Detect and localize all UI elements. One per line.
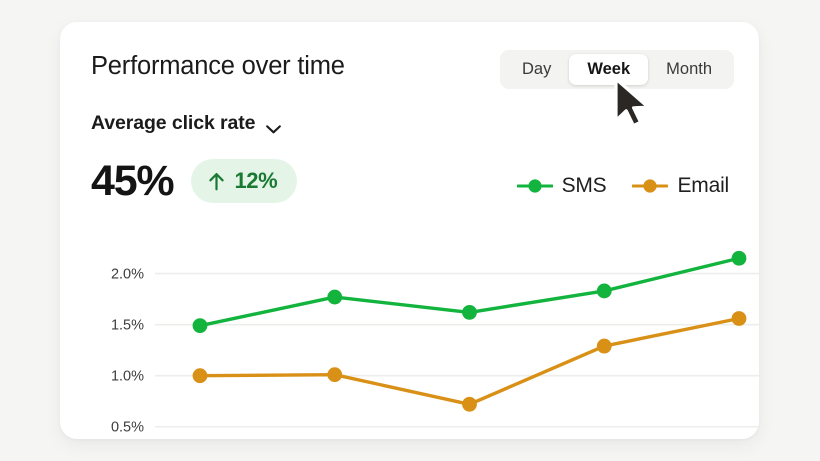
y-axis-tick-label: 2.0% — [111, 267, 144, 283]
y-axis-tick-label: 1.5% — [111, 318, 144, 334]
page-title: Performance over time — [91, 52, 345, 81]
legend-item-sms[interactable]: SMS — [517, 174, 607, 198]
metric-selector-label: Average click rate — [91, 112, 255, 135]
line-chart: 0.5%1.0%1.5%2.0% — [60, 227, 759, 439]
data-point-sms-5[interactable] — [732, 251, 747, 266]
data-point-sms-4[interactable] — [597, 284, 612, 299]
chart-series-layer — [193, 251, 747, 412]
data-point-email-4[interactable] — [597, 339, 612, 354]
screenshot-root: Performance over time Day Week Month Ave… — [0, 0, 820, 461]
stat-delta: 12% — [234, 170, 277, 192]
data-point-email-1[interactable] — [193, 368, 208, 383]
legend-marker-email — [632, 178, 668, 194]
chevron-down-icon — [266, 121, 281, 130]
performance-card: Performance over time Day Week Month Ave… — [60, 22, 759, 439]
time-range-segmented-control[interactable]: Day Week Month — [500, 50, 734, 89]
data-point-email-2[interactable] — [327, 367, 342, 382]
data-point-sms-1[interactable] — [193, 318, 208, 333]
chart-gridlines — [155, 274, 759, 427]
range-option-week[interactable]: Week — [569, 54, 648, 85]
legend-marker-sms — [517, 178, 553, 194]
primary-stat: 45% 12% — [91, 159, 297, 203]
legend-item-email[interactable]: Email — [632, 174, 729, 198]
range-option-month[interactable]: Month — [648, 54, 730, 85]
data-point-sms-3[interactable] — [462, 305, 477, 320]
status-badge: 12% — [191, 159, 297, 203]
data-point-email-5[interactable] — [732, 311, 747, 326]
stat-value: 45% — [91, 160, 173, 203]
legend-label-email: Email — [677, 174, 729, 198]
y-axis-tick-label: 0.5% — [111, 420, 144, 436]
range-option-day[interactable]: Day — [504, 54, 569, 85]
legend-label-sms: SMS — [562, 174, 607, 198]
y-axis-tick-label: 1.0% — [111, 369, 144, 385]
data-point-email-3[interactable] — [462, 397, 477, 412]
data-point-sms-2[interactable] — [327, 290, 342, 305]
series-line-email — [200, 319, 739, 405]
chart-svg: 0.5%1.0%1.5%2.0% — [60, 227, 759, 439]
metric-selector[interactable]: Average click rate — [91, 112, 281, 135]
chart-ytick-labels: 0.5%1.0%1.5%2.0% — [111, 267, 144, 436]
chart-legend: SMS Email — [517, 174, 729, 198]
arrow-up-icon — [208, 172, 225, 191]
